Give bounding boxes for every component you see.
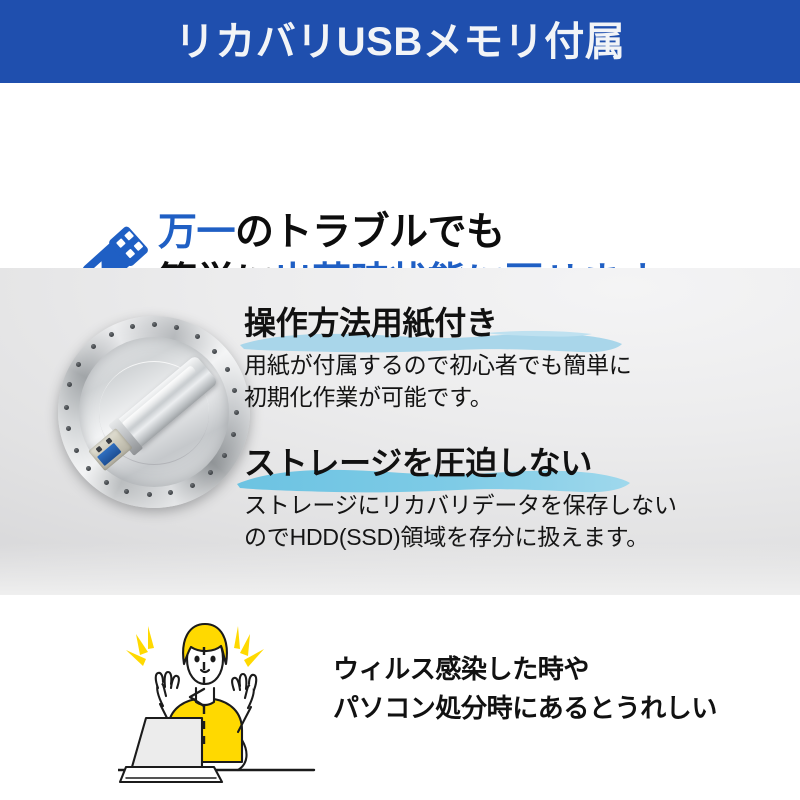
features-section: 操作方法用紙付き 用紙が付属するので初心者でも簡単に 初期化作業が可能です。 — [0, 268, 800, 595]
feature-body: ストレージにリカバリデータを保存しない のでHDD(SSD)領域を存分に扱えます… — [244, 489, 677, 554]
feature-body-line-2: 初期化作業が可能です。 — [244, 381, 632, 414]
hero-line1-highlight: 万一 — [158, 211, 235, 254]
usb3-blue-insert — [97, 443, 122, 466]
bottom-caption-line-2: パソコン処分時にあるとうれしい — [333, 689, 793, 728]
hero-headline-line-1: 万一のトラブルでも — [158, 208, 788, 258]
sparkle-right — [234, 626, 264, 667]
sparkle-left — [126, 626, 154, 666]
product-feature-banner: リカバリUSBメモリ付属 万一のトラブルでも 簡単に出 — [0, 0, 800, 800]
bottom-section: ウィルス感染した時や パソコン処分時にあるとうれしい — [0, 595, 800, 800]
woman-with-laptop-illustration — [118, 612, 332, 792]
feature-body-line-1: 用紙が付属するので初心者でも簡単に — [244, 349, 632, 382]
feature-item: ストレージを圧迫しない ストレージにリカバリデータを保存しない のでHDD(SS… — [244, 446, 677, 554]
feature-item: 操作方法用紙付き 用紙が付属するので初心者でも簡単に 初期化作業が可能です。 — [244, 306, 632, 414]
feature-heading: 操作方法用紙付き — [244, 306, 498, 342]
bottom-caption: ウィルス感染した時や パソコン処分時にあるとうれしい — [333, 650, 793, 728]
hero-section: 万一のトラブルでも 簡単に出荷時状態に戻せます — [0, 83, 800, 268]
bottom-caption-line-1: ウィルス感染した時や — [333, 650, 793, 689]
page-title: リカバリUSBメモリ付属 — [175, 22, 625, 62]
header-banner: リカバリUSBメモリ付属 — [0, 0, 800, 83]
usb-memory-product-photo — [58, 316, 250, 508]
feature-body-line-1: ストレージにリカバリデータを保存しない — [244, 489, 677, 522]
feature-body-line-2: のでHDD(SSD)領域を存分に扱えます。 — [244, 521, 677, 554]
feature-body: 用紙が付属するので初心者でも簡単に 初期化作業が可能です。 — [244, 349, 632, 414]
dashed-callout-bracket — [184, 645, 210, 750]
feature-heading: ストレージを圧迫しない — [244, 446, 592, 482]
hero-line1-rest: のトラブルでも — [235, 211, 505, 254]
